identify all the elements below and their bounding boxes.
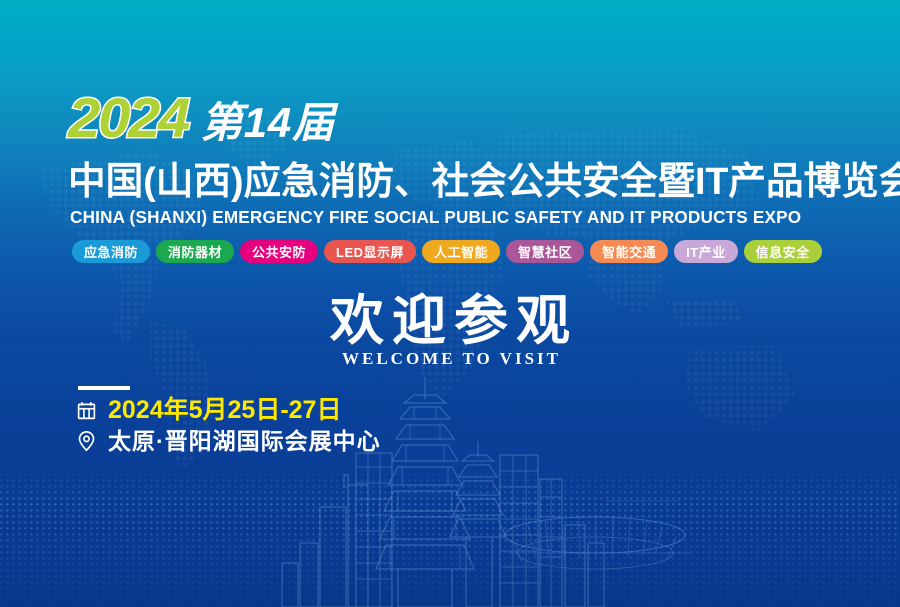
- welcome-headline-english: WELCOME TO VISIT: [0, 349, 900, 369]
- edition-label: 第14届: [201, 102, 336, 146]
- category-tag[interactable]: 智能交通: [590, 240, 668, 263]
- event-venue-row: 太原·晋阳湖国际会展中心: [76, 430, 381, 453]
- calendar-icon: [76, 400, 97, 421]
- category-tag[interactable]: 信息安全: [744, 240, 822, 263]
- expo-poster: 2024 第14届 中国(山西)应急消防、社会公共安全暨IT产品博览会 CHIN…: [0, 0, 900, 607]
- category-tag[interactable]: 智慧社区: [506, 240, 584, 263]
- category-tag[interactable]: 公共安防: [240, 240, 318, 263]
- category-tag[interactable]: 人工智能: [422, 240, 500, 263]
- category-tag[interactable]: 应急消防: [72, 240, 150, 263]
- location-pin-icon: [76, 431, 97, 452]
- welcome-headline: 欢迎参观: [0, 294, 900, 348]
- category-tag[interactable]: LED显示屏: [324, 240, 416, 263]
- category-tag[interactable]: IT产业: [674, 240, 738, 263]
- category-tag-list: 应急消防 消防器材 公共安防 LED显示屏 人工智能 智慧社区 智能交通 IT产…: [72, 240, 822, 263]
- city-skyline-illustration: [0, 357, 900, 607]
- event-date-row: 2024年5月25日-27日: [76, 398, 341, 423]
- particle-ground-effect: [0, 467, 900, 607]
- page-subtitle-english: CHINA (SHANXI) EMERGENCY FIRE SOCIAL PUB…: [70, 207, 801, 228]
- year-label: 2024: [68, 90, 188, 146]
- event-venue: 太原·晋阳湖国际会展中心: [108, 430, 381, 453]
- divider-rule: [78, 386, 130, 390]
- category-tag[interactable]: 消防器材: [156, 240, 234, 263]
- event-date: 2024年5月25日-27日: [108, 398, 341, 423]
- year-edition-row: 2024 第14届: [70, 90, 335, 146]
- page-title: 中国(山西)应急消防、社会公共安全暨IT产品博览会: [68, 162, 900, 204]
